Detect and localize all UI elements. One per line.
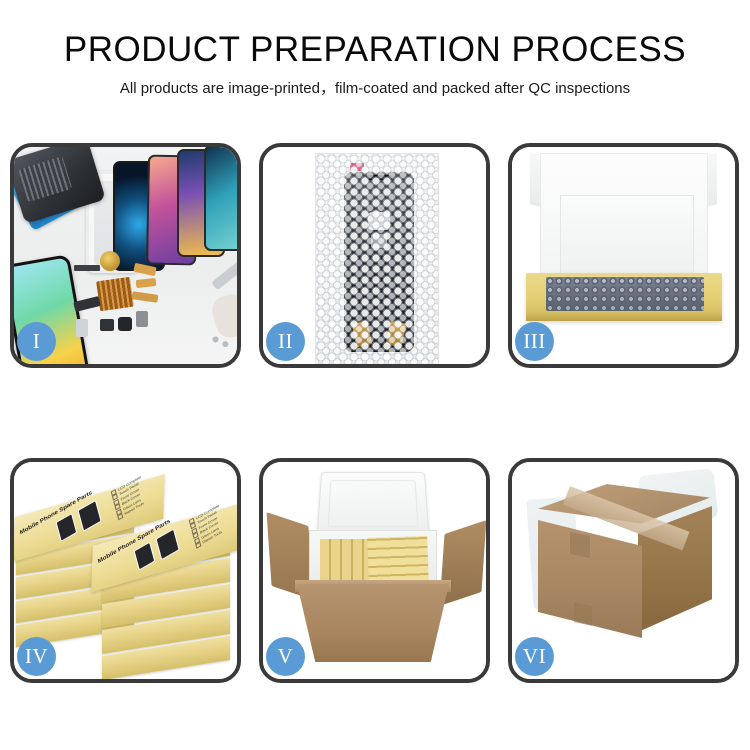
process-step-6: VI (508, 458, 739, 683)
process-step-5: V (259, 458, 490, 683)
header: PRODUCT PREPARATION PROCESS All products… (0, 0, 750, 98)
small-part-8 (136, 311, 148, 327)
carton-handle-tab-bottom (574, 602, 592, 626)
lid-checklist-back: LCD Complete Touch Panel Front Cover Bac… (111, 466, 164, 521)
process-step-4: Mobile Phone Spare Parts LCD Complete To… (10, 458, 241, 683)
step-badge-2: II (266, 322, 305, 361)
page-subtitle: All products are image-printed，film-coat… (0, 80, 750, 98)
carton-handle-tab-top (570, 532, 590, 558)
lid-phone-image-2 (77, 500, 101, 532)
foam-cooler-lid (317, 472, 430, 537)
step-badge-3: III (515, 322, 554, 361)
phone-screen-teal (204, 147, 237, 251)
small-part-1 (74, 265, 100, 271)
process-step-3: III (508, 143, 739, 368)
process-step-2: II (259, 143, 490, 368)
lid-phone-image-3 (134, 542, 156, 571)
lid-checklist-front: LCD Complete Touch Panel Front Cover Bac… (189, 495, 237, 550)
step-badge-5: V (266, 637, 305, 676)
bubble-wrapped-contents (546, 277, 704, 311)
step-badge-4: IV (17, 637, 56, 676)
carton-body (297, 584, 449, 662)
gold-boxes-row-2 (367, 536, 429, 584)
screws (210, 333, 232, 349)
box-front-lip (526, 311, 722, 321)
small-part-4 (73, 296, 101, 312)
repair-tool (211, 258, 237, 291)
lid-phone-image-1 (55, 513, 77, 542)
bubble-texture (316, 154, 438, 364)
process-step-1: I (10, 143, 241, 368)
lid-phone-image-4 (155, 528, 179, 560)
foam-sheet (560, 195, 694, 281)
kraft-box-tray (526, 273, 722, 321)
speaker-coil (100, 251, 120, 271)
small-part-3 (136, 278, 157, 288)
small-part-7 (118, 317, 132, 331)
chip-array (96, 277, 134, 311)
small-part-9 (132, 291, 159, 303)
small-part-5 (76, 319, 88, 337)
step-badge-6: VI (515, 637, 554, 676)
small-part-6 (100, 319, 114, 331)
step-badge-1: I (17, 322, 56, 361)
process-step-grid: I II (10, 143, 740, 683)
product-preparation-infographic: PRODUCT PREPARATION PROCESS All products… (0, 0, 750, 750)
page-title: PRODUCT PREPARATION PROCESS (0, 30, 750, 70)
bubble-wrap-bag (315, 153, 439, 364)
